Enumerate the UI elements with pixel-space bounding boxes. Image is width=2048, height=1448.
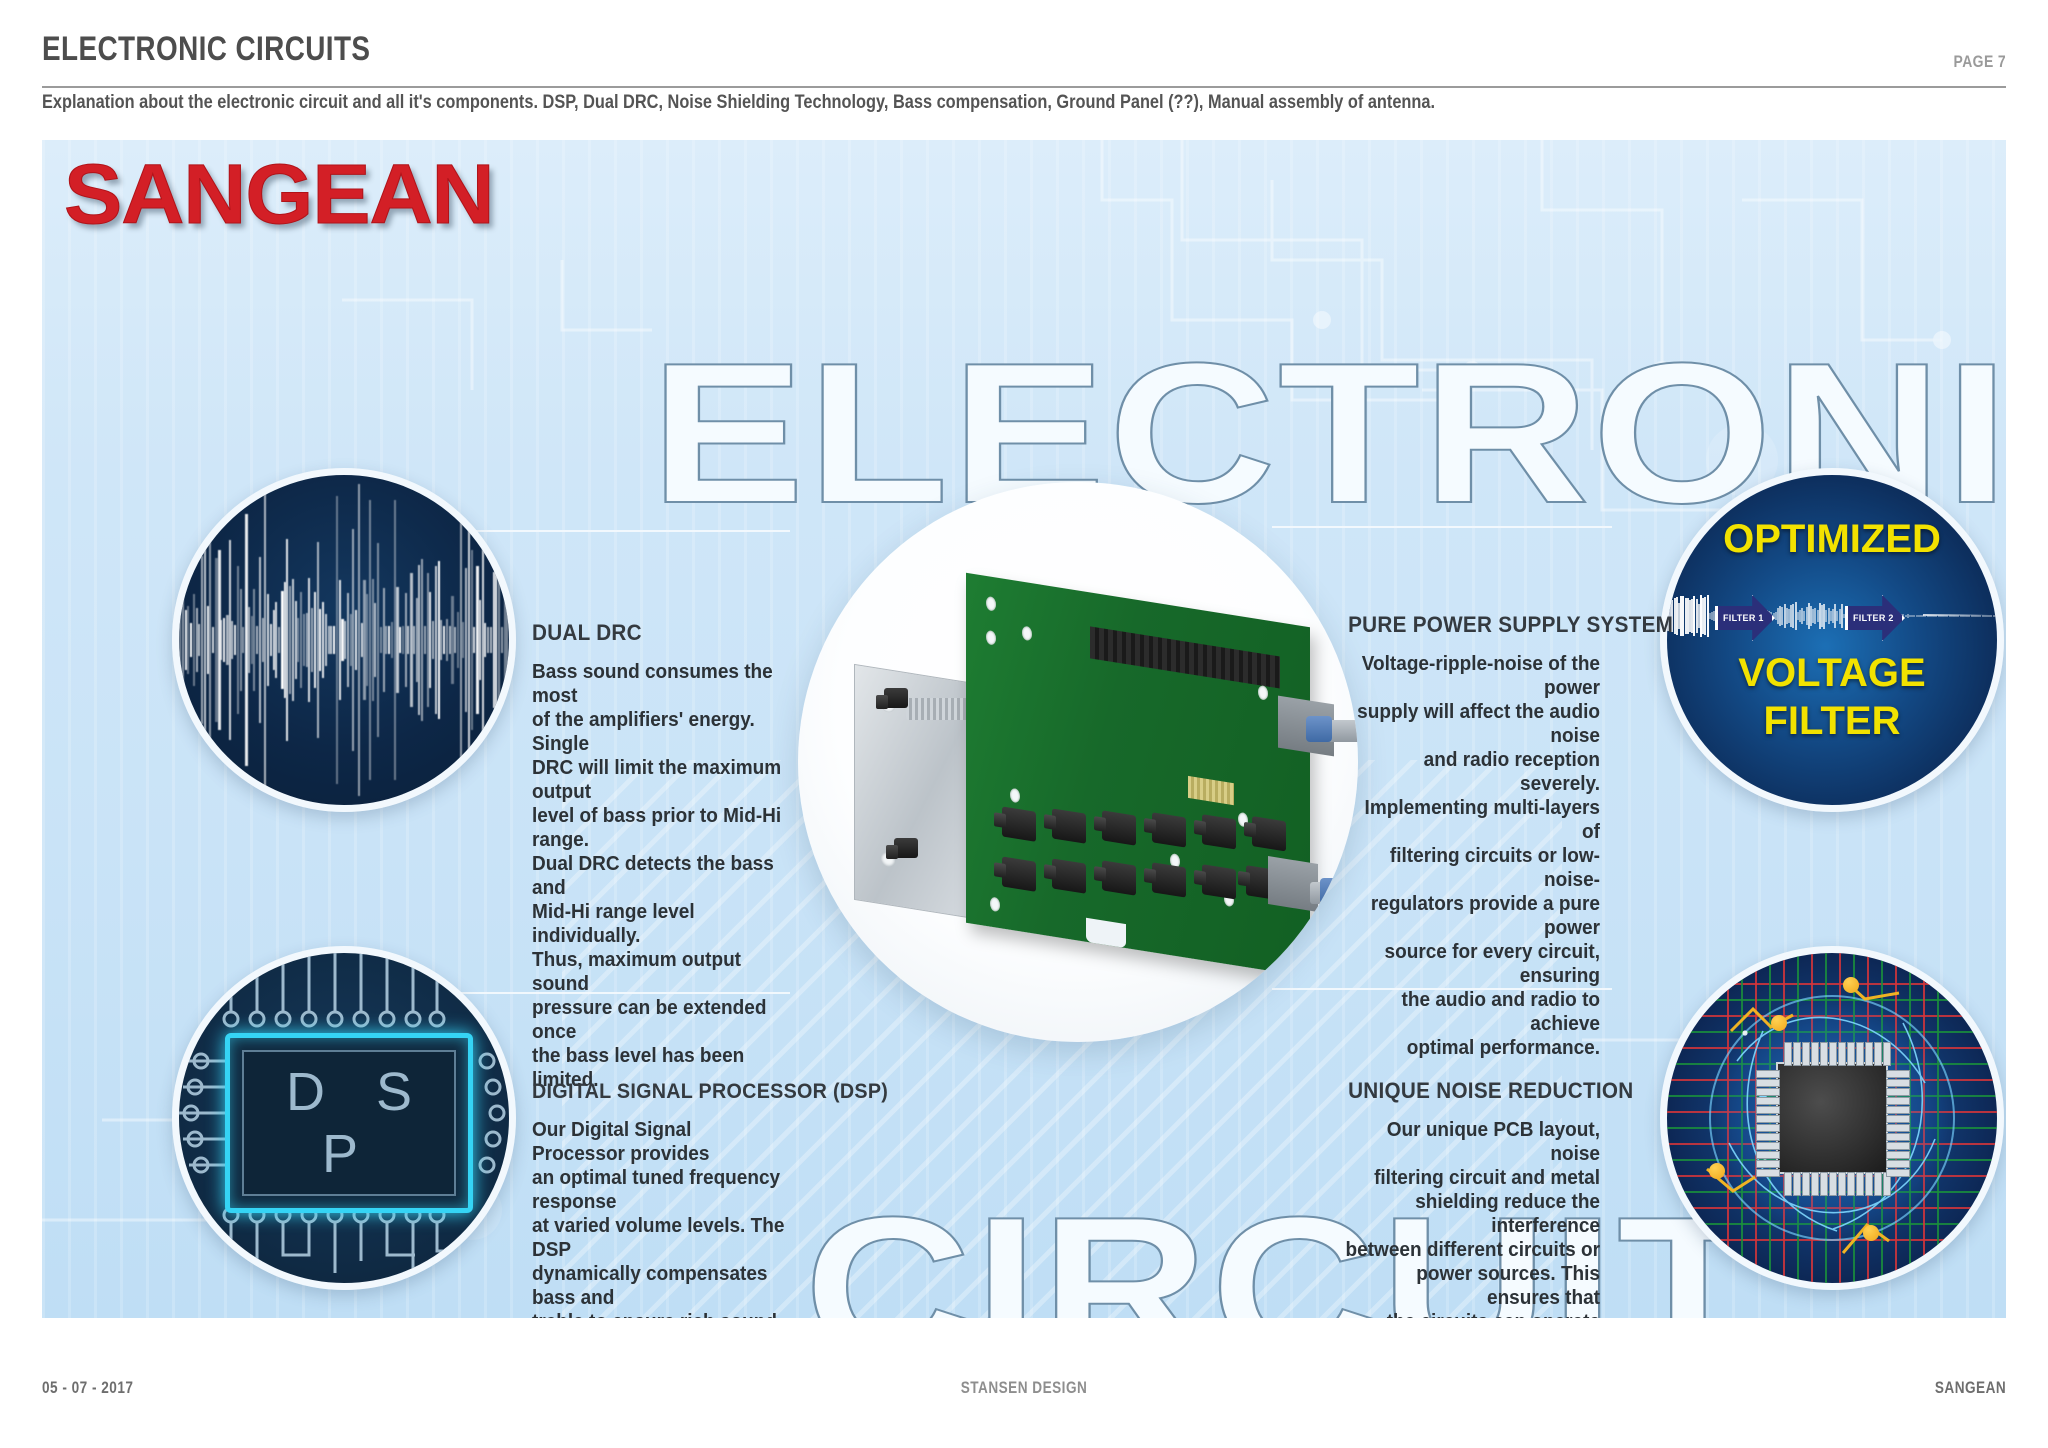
- filter-badge-voltage: VOLTAGE: [1667, 651, 1997, 696]
- heading-dsp: DIGITAL SIGNAL PROCESSOR (DSP): [532, 1080, 784, 1104]
- filter-badge-optimized: OPTIMIZED: [1667, 517, 1997, 562]
- noise-chip-pin: [1811, 1172, 1819, 1196]
- page-number: PAGE 7: [1953, 52, 2006, 72]
- gold-connector: [1188, 776, 1234, 805]
- poster-canvas: SANGEAN ELECTRONIC CIRCUIT: [42, 140, 2006, 1318]
- noise-chip-pin: [1756, 1097, 1780, 1105]
- pcb-board: [966, 573, 1310, 977]
- noise-chip-pin: [1756, 1115, 1780, 1123]
- noise-chip-pin: [1886, 1097, 1910, 1105]
- noise-chip-pin: [1756, 1160, 1780, 1168]
- pin-header-connector: [1090, 626, 1280, 688]
- page-footer: 05 - 07 - 2017 STANSEN DESIGN SANGEAN: [42, 1378, 2006, 1408]
- noise-node-1: [1843, 977, 1859, 993]
- noise-chip-pin: [1838, 1172, 1846, 1196]
- page-header: ELECTRONIC CIRCUITS PAGE 7 Explanation a…: [42, 30, 2006, 69]
- sangean-logo: SANGEAN: [64, 146, 494, 243]
- heading-dual-drc: DUAL DRC: [532, 620, 784, 646]
- filter-badge-filter: FILTER: [1667, 699, 1997, 744]
- dsp-chip-graphic: D S P: [172, 946, 516, 1290]
- noise-chip-pin: [1886, 1142, 1910, 1150]
- text-block-dsp: DIGITAL SIGNAL PROCESSOR (DSP) Our Digit…: [532, 1080, 800, 1318]
- noise-chip-pin: [1756, 1088, 1780, 1096]
- noise-chip-pin: [1784, 1172, 1792, 1196]
- text-block-noise-reduction: UNIQUE NOISE REDUCTION Our unique PCB la…: [1332, 1078, 1600, 1318]
- header-divider: [42, 86, 2006, 88]
- heading-noise-reduction: UNIQUE NOISE REDUCTION: [1348, 1078, 1600, 1104]
- noise-chip-pin: [1886, 1070, 1910, 1078]
- noise-chip-pin: [1886, 1160, 1910, 1168]
- page-subtitle: Explanation about the electronic circuit…: [42, 92, 1435, 114]
- noise-chip-pin: [1886, 1088, 1910, 1096]
- noise-node-4: [1863, 1225, 1879, 1241]
- filter-output-line: [1923, 614, 1989, 616]
- filter-2-label: FILTER 2: [1848, 613, 1894, 623]
- footer-designer: STANSEN DESIGN: [961, 1378, 1088, 1398]
- noise-chip-pin: [1829, 1042, 1837, 1066]
- noise-chip-pin: [1847, 1172, 1855, 1196]
- noise-chip-pin: [1847, 1042, 1855, 1066]
- waveform-graphic: [172, 468, 516, 812]
- noise-chip-pin: [1784, 1042, 1792, 1066]
- heading-pure-power-supply: PURE POWER SUPPLY SYSTEM: [1348, 612, 1600, 638]
- noise-chip-pin: [1756, 1070, 1780, 1078]
- noise-chip-pin: [1886, 1151, 1910, 1159]
- jack-nut-top: [1306, 716, 1332, 742]
- noise-chip-pin: [1820, 1042, 1828, 1066]
- noise-chip-pin: [1886, 1169, 1910, 1177]
- noise-chip-pin: [1886, 1079, 1910, 1087]
- text-block-pure-power-supply: PURE POWER SUPPLY SYSTEM Voltage-ripple-…: [1332, 612, 1600, 1060]
- noise-node-3: [1709, 1163, 1725, 1179]
- headline-circuit: CIRCUIT: [804, 1188, 1761, 1318]
- body-pure-power-supply: Voltage-ripple-noise of the power supply…: [1345, 652, 1600, 1060]
- noise-chip-pin: [1756, 1079, 1780, 1087]
- body-dual-drc: Bass sound consumes the most of the ampl…: [532, 660, 787, 1092]
- footer-brand: SANGEAN: [1935, 1378, 2006, 1398]
- noise-chip-pin: [1793, 1042, 1801, 1066]
- noise-chip-pin: [1865, 1042, 1873, 1066]
- noise-chip-pin: [1756, 1133, 1780, 1141]
- filter-2-arrow: FILTER 2: [1845, 593, 1899, 637]
- noise-chip-pin: [1874, 1172, 1882, 1196]
- noise-chip: [1776, 1062, 1888, 1174]
- dsp-chip-label: D S P: [230, 1061, 468, 1185]
- noise-chip-pin: [1756, 1106, 1780, 1114]
- text-block-dual-drc: DUAL DRC Bass sound consumes the most of…: [532, 620, 800, 1092]
- standoff-bottom: [894, 838, 918, 858]
- noise-chip-pin: [1802, 1172, 1810, 1196]
- noise-chip-pin: [1811, 1042, 1819, 1066]
- footer-date: 05 - 07 - 2017: [42, 1378, 133, 1398]
- pcb-stage: [798, 482, 1358, 1042]
- connector-line-drc: [460, 530, 790, 532]
- noise-chip-pin: [1756, 1151, 1780, 1159]
- noise-chip-pin: [1886, 1115, 1910, 1123]
- noise-chip-pin: [1865, 1172, 1873, 1196]
- noise-chip-pin: [1886, 1106, 1910, 1114]
- noise-chip-pin: [1756, 1169, 1780, 1177]
- noise-chip-pin: [1756, 1124, 1780, 1132]
- noise-chip-pin: [1856, 1042, 1864, 1066]
- standoff-top: [884, 688, 908, 708]
- noise-chip-pin: [1874, 1042, 1882, 1066]
- waveform-bars: [179, 475, 509, 805]
- noise-chip-pin: [1886, 1124, 1910, 1132]
- noise-node-2: [1771, 1015, 1787, 1031]
- body-dsp: Our Digital Signal Processor provides an…: [532, 1118, 787, 1318]
- noise-chip-pin: [1756, 1142, 1780, 1150]
- dsp-chip-body: D S P: [225, 1033, 473, 1213]
- page-title: ELECTRONIC CIRCUITS: [42, 30, 1652, 69]
- noise-reduction-graphic: [1660, 946, 2004, 1290]
- body-noise-reduction: Our unique PCB layout, noise filtering c…: [1345, 1118, 1600, 1318]
- noise-chip-pin: [1829, 1172, 1837, 1196]
- filter-1-arrow: FILTER 1: [1715, 593, 1769, 637]
- noise-chip-pin: [1886, 1133, 1910, 1141]
- noise-chip-pin: [1856, 1172, 1864, 1196]
- noise-chip-pin: [1820, 1172, 1828, 1196]
- noise-chip-pin: [1793, 1172, 1801, 1196]
- filter-1-label: FILTER 1: [1718, 613, 1764, 623]
- noise-chip-pin: [1838, 1042, 1846, 1066]
- pcb-product-photo: [798, 482, 1358, 1042]
- poster-page: ELECTRONIC CIRCUITS PAGE 7 Explanation a…: [0, 0, 2048, 1448]
- noise-chip-pin: [1802, 1042, 1810, 1066]
- voltage-filter-graphic: OPTIMIZED FILTER 1 FILTER 2 VOLTAGE FILT…: [1660, 468, 2004, 812]
- noise-chip-pin: [1883, 1042, 1891, 1066]
